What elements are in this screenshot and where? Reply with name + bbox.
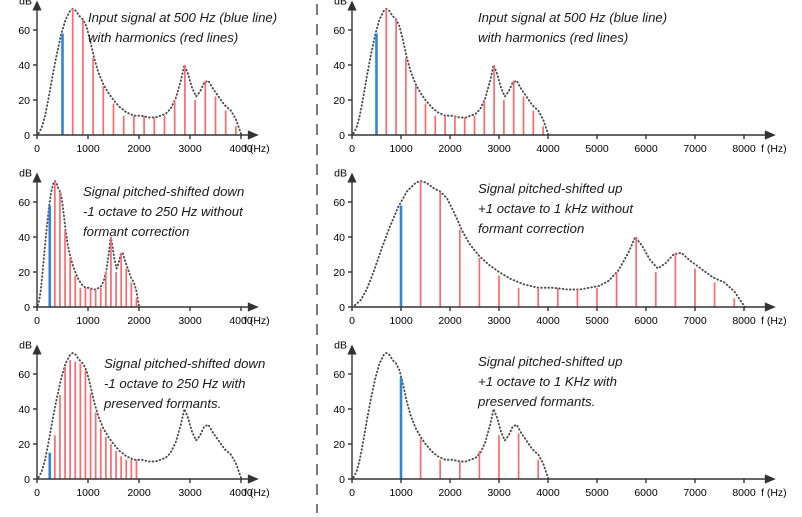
x-tick-label: 6000 [634,315,658,327]
y-axis-label: dB [19,168,32,180]
caption-line: +1 octave to 1 KHz with [478,374,617,389]
x-axis-arrow [248,130,259,139]
spectral-envelope-middle-left [38,181,139,307]
y-axis-arrow [347,345,356,355]
x-tick-label: 5000 [585,315,609,327]
x-axis-label: f (Hz) [244,487,270,499]
x-tick-label: 4000 [536,315,560,327]
caption-line: formant correction [478,221,584,236]
x-tick-label: 2000 [438,315,462,327]
y-tick-label: 40 [18,232,30,244]
y-tick-label: 20 [18,95,30,107]
caption-line: Signal pitched-shifted down [83,184,244,199]
x-axis-arrow [248,474,259,483]
caption-line: with harmonics (red lines) [88,30,238,45]
chart-middle-right: 010002000300040005000600070008000f (Hz)0… [333,168,786,328]
y-axis-label: dB [19,0,32,8]
spectra-figure-svg: 01000200030004000f (Hz)0204060dBInput si… [0,0,802,517]
caption-bottom-left: Signal pitched-shifted down-1 octave to … [103,356,265,411]
x-tick-label: 1000 [389,143,413,155]
x-tick-label: 8000 [732,487,756,499]
chart-middle-left: 01000200030004000f (Hz)0204060dBSignal p… [18,168,269,328]
y-tick-label: 40 [18,404,30,416]
caption-line: +1 octave to 1 kHz without [478,201,634,216]
x-tick-label: 6000 [634,487,658,499]
spectral-envelope-middle-right [355,181,745,307]
x-axis-arrow [248,302,259,311]
y-tick-label: 40 [18,60,30,72]
x-tick-label: 0 [34,487,40,499]
x-tick-label: 7000 [683,315,707,327]
x-tick-label: 2000 [438,143,462,155]
y-axis-label: dB [19,340,32,352]
chart-bottom-left: 01000200030004000f (Hz)0204060dBSignal p… [18,340,269,500]
caption-line: -1 octave to 250 Hz with [104,376,245,391]
caption-top-left: Input signal at 500 Hz (blue line)with h… [88,10,277,45]
y-tick-label: 0 [339,130,345,142]
x-tick-label: 0 [34,143,40,155]
y-tick-label: 0 [339,302,345,314]
caption-line: preserved formants. [477,394,595,409]
x-tick-label: 6000 [634,143,658,155]
x-tick-label: 1000 [76,487,100,499]
x-tick-label: 3000 [487,143,511,155]
x-axis-arrow [765,474,776,483]
caption-line: Input signal at 500 Hz (blue line) [478,10,667,25]
pitch-shift-figure: 01000200030004000f (Hz)0204060dBInput si… [0,0,802,517]
y-axis-arrow [347,1,356,11]
caption-top-right: Input signal at 500 Hz (blue line)with h… [478,10,667,45]
caption-line: preserved formants. [103,396,221,411]
chart-bottom-right: 010002000300040005000600070008000f (Hz)0… [333,340,786,500]
x-tick-label: 3000 [487,315,511,327]
x-axis-arrow [765,130,776,139]
x-axis-label: f (Hz) [244,315,270,327]
x-tick-label: 8000 [732,315,756,327]
x-axis-label: f (Hz) [761,487,787,499]
x-tick-label: 2000 [127,143,151,155]
y-tick-label: 0 [339,474,345,486]
y-tick-label: 20 [333,267,345,279]
harmonic-lines-top-left [73,9,236,135]
harmonic-lines-top-right [386,9,543,135]
x-tick-label: 5000 [585,487,609,499]
x-tick-label: 1000 [389,315,413,327]
chart-top-left: 01000200030004000f (Hz)0204060dBInput si… [18,0,277,155]
y-tick-label: 60 [18,197,30,209]
x-axis-arrow [765,302,776,311]
y-tick-label: 60 [18,25,30,37]
harmonic-lines-middle-right [421,181,735,307]
y-axis-arrow [32,173,41,183]
x-tick-label: 2000 [127,487,151,499]
x-tick-label: 0 [349,143,355,155]
caption-middle-left: Signal pitched-shifted down-1 octave to … [83,184,244,239]
y-tick-label: 60 [333,197,345,209]
x-axis-label: f (Hz) [244,143,270,155]
y-axis-label: dB [334,340,347,352]
x-tick-label: 3000 [178,315,202,327]
x-tick-label: 1000 [76,143,100,155]
y-axis-arrow [347,173,356,183]
x-tick-label: 2000 [127,315,151,327]
caption-line: Signal pitched-shifted up [478,354,622,369]
x-tick-label: 3000 [178,143,202,155]
y-axis-label: dB [334,0,347,8]
y-tick-label: 20 [18,267,30,279]
y-tick-label: 40 [333,232,345,244]
caption-bottom-right: Signal pitched-shifted up+1 octave to 1 … [477,354,622,409]
y-tick-label: 60 [18,369,30,381]
chart-top-right: 010002000300040005000600070008000f (Hz)0… [333,0,786,155]
caption-line: Input signal at 500 Hz (blue line) [88,10,277,25]
x-axis-label: f (Hz) [761,143,787,155]
y-tick-label: 20 [18,439,30,451]
y-tick-label: 60 [333,369,345,381]
y-axis-arrow [32,1,41,11]
x-tick-label: 0 [34,315,40,327]
y-tick-label: 20 [333,95,345,107]
x-tick-label: 7000 [683,487,707,499]
x-tick-label: 4000 [536,143,560,155]
y-axis-arrow [32,345,41,355]
y-tick-label: 20 [333,439,345,451]
x-tick-label: 3000 [178,487,202,499]
x-tick-label: 7000 [683,143,707,155]
y-tick-label: 0 [24,130,30,142]
y-axis-label: dB [334,168,347,180]
caption-line: -1 octave to 250 Hz without [83,204,244,219]
x-tick-label: 1000 [389,487,413,499]
y-tick-label: 60 [333,25,345,37]
x-tick-label: 0 [349,487,355,499]
x-tick-label: 2000 [438,487,462,499]
x-tick-label: 8000 [732,143,756,155]
x-tick-label: 5000 [585,143,609,155]
y-tick-label: 0 [24,302,30,314]
y-tick-label: 0 [24,474,30,486]
caption-line: Signal pitched-shifted up [478,181,622,196]
caption-line: formant correction [83,224,189,239]
spectral-envelope-top-right [353,9,548,135]
x-tick-label: 4000 [536,487,560,499]
x-tick-label: 0 [349,315,355,327]
y-tick-label: 40 [333,60,345,72]
caption-line: with harmonics (red lines) [478,30,628,45]
x-tick-label: 3000 [487,487,511,499]
y-tick-label: 40 [333,404,345,416]
caption-middle-right: Signal pitched-shifted up+1 octave to 1 … [478,181,634,236]
x-axis-label: f (Hz) [761,315,787,327]
caption-line: Signal pitched-shifted down [104,356,265,371]
spectral-envelope-bottom-left [39,353,242,479]
x-tick-label: 1000 [76,315,100,327]
spectral-envelope-top-left [39,9,242,135]
